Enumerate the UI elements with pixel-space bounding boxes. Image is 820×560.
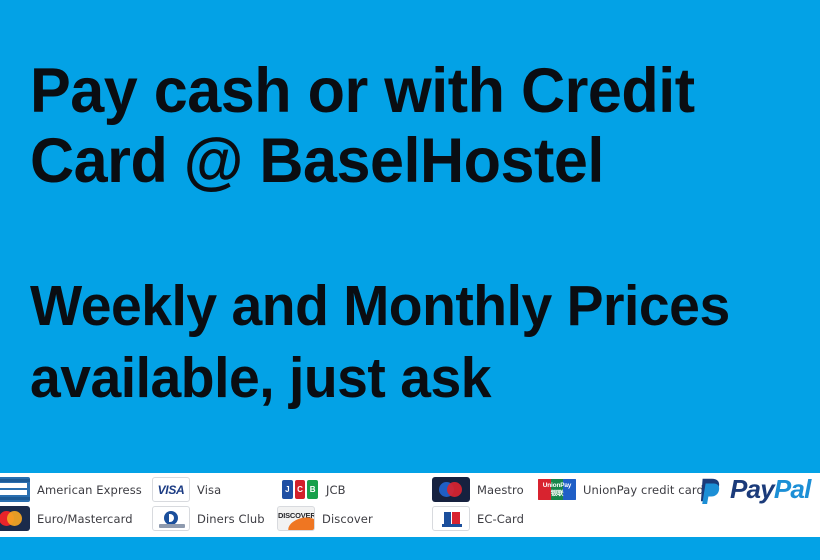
jcb-letter-c: C (295, 480, 306, 499)
jcb-card-icon: J C B (281, 477, 319, 502)
headline-primary-line-1: Pay cash or with Credit (30, 56, 709, 126)
payment-method-label: Diners Club (197, 512, 265, 526)
paypal-word-pay: Pay (730, 474, 774, 504)
headline-primary-line-2: Card @ BaselHostel (30, 126, 709, 196)
payment-method-american-express: American Express (0, 476, 142, 503)
payment-method-label: Visa (197, 483, 221, 497)
payment-method-label: Maestro (477, 483, 524, 497)
headline-secondary: Weekly and Monthly Prices available, jus… (30, 270, 790, 414)
headline-secondary-line-2: available, just ask (30, 342, 767, 414)
paypal-monogram-icon (698, 476, 724, 504)
ec-card-icon (432, 506, 470, 531)
payment-method-diners-club: Diners Club (152, 505, 265, 532)
headline-secondary-line-1: Weekly and Monthly Prices (30, 270, 767, 342)
paypal-word-pal: Pal (774, 474, 811, 504)
payment-methods-panel: American Express Euro/Mastercard VISA Vi… (0, 473, 820, 537)
payment-method-label: Euro/Mastercard (37, 512, 133, 526)
amex-card-icon (0, 477, 30, 502)
payment-method-euro-mastercard: Euro/Mastercard (0, 505, 133, 532)
payment-method-discover: DISCOVER Discover (277, 505, 373, 532)
payment-method-ec-card: EC-Card (432, 505, 524, 532)
payment-method-unionpay: UnionPay 银联 UnionPay credit card (538, 476, 704, 503)
payment-method-label: American Express (37, 483, 142, 497)
visa-card-icon: VISA (152, 477, 190, 502)
discover-card-icon: DISCOVER (277, 506, 315, 531)
payment-method-label: UnionPay credit card (583, 483, 704, 497)
poster-canvas: Pay cash or with Credit Card @ BaselHost… (0, 0, 820, 560)
jcb-letter-b: B (307, 480, 318, 499)
jcb-letter-j: J (282, 480, 293, 499)
unionpay-card-icon: UnionPay 银联 (538, 477, 576, 502)
mastercard-card-icon (0, 506, 30, 531)
payment-method-label: Discover (322, 512, 373, 526)
paypal-wordmark: PayPal (730, 474, 811, 505)
payment-method-maestro: Maestro (432, 476, 524, 503)
payment-method-label: JCB (326, 483, 346, 497)
maestro-card-icon (432, 477, 470, 502)
paypal-logo: PayPal (698, 474, 811, 505)
payment-method-jcb: J C B JCB (281, 476, 346, 503)
payment-method-visa: VISA Visa (152, 476, 221, 503)
headline-primary: Pay cash or with Credit Card @ BaselHost… (30, 56, 730, 196)
visa-wordmark: VISA (153, 478, 189, 501)
payment-methods-grid: American Express Euro/Mastercard VISA Vi… (0, 473, 820, 537)
diners-club-card-icon (152, 506, 190, 531)
payment-method-label: EC-Card (477, 512, 524, 526)
